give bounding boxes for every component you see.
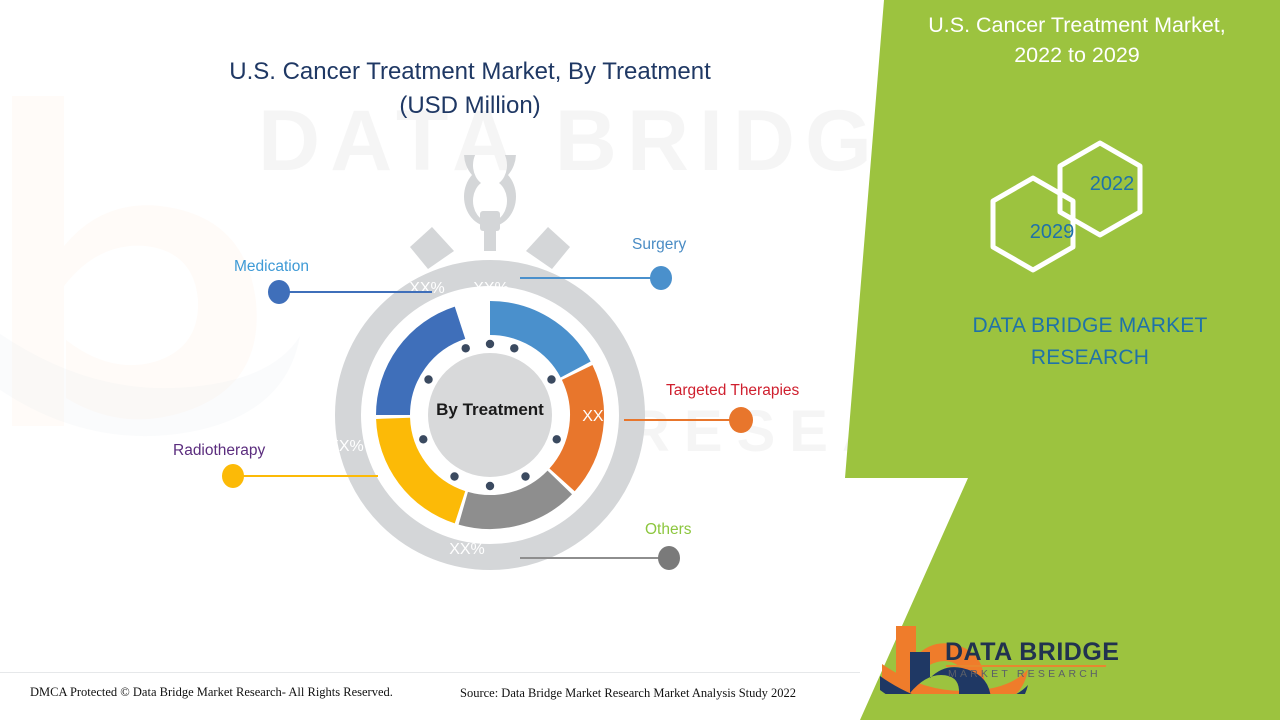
page-title-line1: U.S. Cancer Treatment Market, By Treatme… <box>130 55 810 89</box>
hexagon-2022-label: 2022 <box>1072 173 1152 196</box>
hexagon-badge-group <box>975 140 1195 275</box>
tick-dot <box>510 344 518 352</box>
slice-value-medication: XX% <box>402 280 452 298</box>
callout-label-others: Others <box>645 521 692 539</box>
footer-source-text: Source: Data Bridge Market Research Mark… <box>460 686 796 701</box>
callout-label-medication: Medication <box>234 258 309 276</box>
brand-name: DATA BRIDGE MARKET RESEARCH <box>930 310 1250 374</box>
tick-dot <box>419 435 427 443</box>
tick-dot <box>486 340 494 348</box>
page-title: U.S. Cancer Treatment Market, By Treatme… <box>130 55 810 123</box>
tick-dot <box>450 472 458 480</box>
callout-label-surgery: Surgery <box>632 236 686 254</box>
footer-dmca-text: DMCA Protected © Data Bridge Market Rese… <box>30 685 393 700</box>
donut-center-label: By Treatment <box>390 400 590 420</box>
tick-dot <box>462 344 470 352</box>
panel-title-line1: U.S. Cancer Treatment Market, <box>884 10 1270 40</box>
tick-dot <box>553 435 561 443</box>
brand-name-line1: DATA BRIDGE MARKET <box>930 310 1250 342</box>
panel-title: U.S. Cancer Treatment Market, 2022 to 20… <box>884 10 1270 70</box>
logo-divider <box>946 665 1106 667</box>
donut-chart-svg <box>290 155 690 595</box>
footer-divider <box>0 672 860 673</box>
tick-dot <box>424 375 432 383</box>
slice-value-others: XX% <box>442 541 492 559</box>
slice-value-radiotherapy: XX% <box>328 435 364 459</box>
tick-dot <box>486 482 494 490</box>
callout-label-radiotherapy: Radiotherapy <box>173 442 265 460</box>
tick-dot <box>547 375 555 383</box>
panel-title-line2: 2022 to 2029 <box>884 40 1270 70</box>
stopwatch-icon <box>410 155 570 269</box>
slice-value-surgery: XX% <box>466 280 516 298</box>
page-title-line2: (USD Million) <box>130 89 810 123</box>
tick-dot <box>521 472 529 480</box>
logo-text-sub: MARKET RESEARCH <box>948 668 1101 680</box>
hexagon-2029-label: 2029 <box>1012 221 1092 244</box>
donut-chart: XX% XX% XX% XX% XX% By Treatment <box>290 155 690 595</box>
infographic-canvas: DATA BRIDGE RESEARCH U.S. Cancer Treatme… <box>0 0 1280 720</box>
callout-label-targeted-therapies: Targeted Therapies <box>666 382 799 400</box>
logo-text-main: DATA BRIDGE <box>945 638 1119 667</box>
brand-name-line2: RESEARCH <box>930 342 1250 374</box>
